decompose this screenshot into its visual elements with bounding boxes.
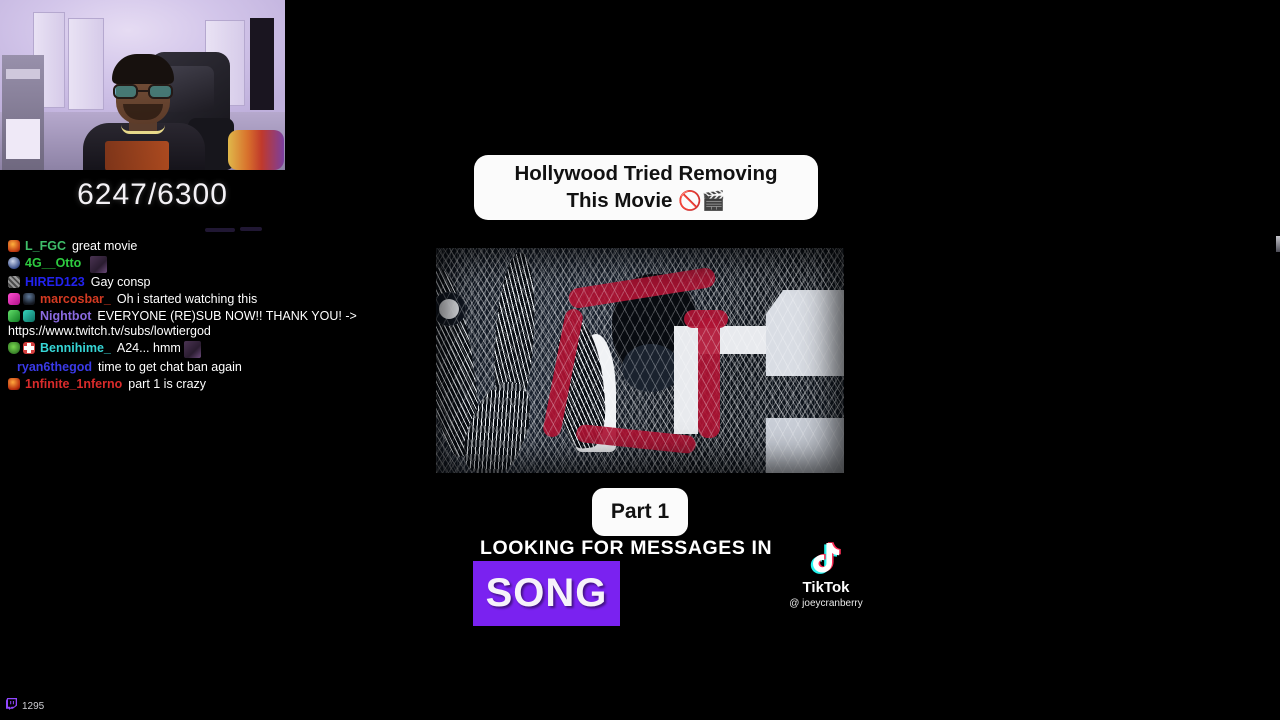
video-player[interactable]: Hollywood Tried Removing This Movie 🚫🎬 P… xyxy=(436,0,844,720)
song-highlight-text: SONG xyxy=(486,571,608,616)
chat-message-text: A24... hmm xyxy=(117,341,181,356)
webcam-feed[interactable] xyxy=(0,0,285,170)
red-cross-badge-icon xyxy=(23,342,35,354)
eyeglasses-icon xyxy=(113,84,173,99)
chat-badges xyxy=(8,292,35,305)
viewer-count: 1295 xyxy=(22,701,44,712)
chat-message-text: EVERYONE (RE)SUB NOW!! THANK YOU! -> xyxy=(97,309,356,324)
gem-pink-badge-icon xyxy=(8,293,20,305)
twitch-glitch-icon xyxy=(6,697,17,715)
leaf-badge-icon xyxy=(8,342,20,354)
chat-badges xyxy=(8,275,20,288)
caption-line-2: This Movie xyxy=(567,189,673,212)
song-highlight-box: SONG xyxy=(473,561,620,626)
chat-message[interactable]: L_FGCgreat movie xyxy=(0,238,400,255)
chat-message[interactable]: 1nfinite_1nfernopart 1 is crazy xyxy=(0,376,400,393)
chat-message-link[interactable]: https://www.twitch.tv/subs/lowtiergod xyxy=(8,324,400,339)
tiktok-brand-label: TikTok xyxy=(766,579,886,596)
chat-username[interactable]: 1nfinite_1nferno xyxy=(25,377,122,392)
tiktok-handle-label: @ joeycranberry xyxy=(766,598,886,609)
chat-username[interactable]: marcosbar_ xyxy=(40,292,111,307)
teal-badge-icon xyxy=(23,310,35,322)
dark-doorway xyxy=(250,18,274,110)
chat-username[interactable]: HIRED123 xyxy=(25,275,85,290)
sub-red-badge-icon xyxy=(8,378,20,390)
chat-row-faded xyxy=(0,222,400,238)
chat-badges xyxy=(8,256,20,269)
part-label-bubble: Part 1 xyxy=(592,488,688,536)
sub-gray-badge-icon xyxy=(8,276,20,288)
sub-goal-counter: 6247/6300 xyxy=(0,178,305,212)
chat-message-text: Oh i started watching this xyxy=(117,292,257,307)
video-caption-bubble: Hollywood Tried Removing This Movie 🚫🎬 xyxy=(474,155,818,220)
chat-badges-empty xyxy=(8,360,12,361)
chat-badges xyxy=(8,309,35,322)
no-entry-clapper-icon: 🚫🎬 xyxy=(678,191,725,212)
sub-blue-badge-icon xyxy=(8,257,20,269)
chat-username[interactable]: L_FGC xyxy=(25,239,66,254)
chat-message-list[interactable]: L_FGCgreat movie4G__OttoHIRED123Gay cons… xyxy=(0,238,400,393)
chat-username[interactable]: 4G__Otto xyxy=(25,256,81,271)
chat-username[interactable]: Bennihime_ xyxy=(40,341,111,356)
mouse-cursor xyxy=(1276,236,1280,252)
status-bar: 1295 xyxy=(0,697,44,715)
chat-message-text: time to get chat ban again xyxy=(98,360,242,375)
chat-message[interactable]: NightbotEVERYONE (RE)SUB NOW!! THANK YOU… xyxy=(0,308,400,340)
tiktok-note-icon xyxy=(806,538,846,578)
chat-username[interactable]: Nightbot xyxy=(40,309,91,324)
chat-badges xyxy=(8,341,35,354)
chat-message-text: great movie xyxy=(72,239,137,254)
green-badge-icon xyxy=(8,310,20,322)
streamer-person xyxy=(95,48,191,170)
sub-orange-badge-icon xyxy=(8,240,20,252)
dark-badge-icon xyxy=(23,293,35,305)
chat-message[interactable]: marcosbar_Oh i started watching this xyxy=(0,291,400,308)
chat-emote-icon xyxy=(90,256,107,273)
chat-message-text: Gay consp xyxy=(91,275,151,290)
chat-badges xyxy=(8,239,20,252)
chat-panel[interactable]: L_FGCgreat movie4G__OttoHIRED123Gay cons… xyxy=(0,222,400,393)
chat-message-text: part 1 is crazy xyxy=(128,377,206,392)
chat-emote-icon xyxy=(184,341,201,358)
chat-message[interactable]: ryan6thegodtime to get chat ban again xyxy=(0,359,400,376)
chat-message[interactable]: Bennihime_A24... hmm xyxy=(0,340,400,359)
video-frame-image[interactable] xyxy=(436,248,844,473)
colorful-blanket xyxy=(228,130,284,170)
chat-message[interactable]: HIRED123Gay consp xyxy=(0,274,400,291)
chat-message[interactable]: 4G__Otto xyxy=(0,255,400,274)
caption-line-1: Hollywood Tried Removing xyxy=(514,162,777,185)
chat-badges xyxy=(8,377,20,390)
video-headline: LOOKING FOR MESSAGES IN xyxy=(480,537,810,560)
shelf-rack xyxy=(2,55,44,170)
chat-username[interactable]: ryan6thegod xyxy=(17,360,92,375)
tiktok-watermark: TikTok @ joeycranberry xyxy=(766,538,886,609)
